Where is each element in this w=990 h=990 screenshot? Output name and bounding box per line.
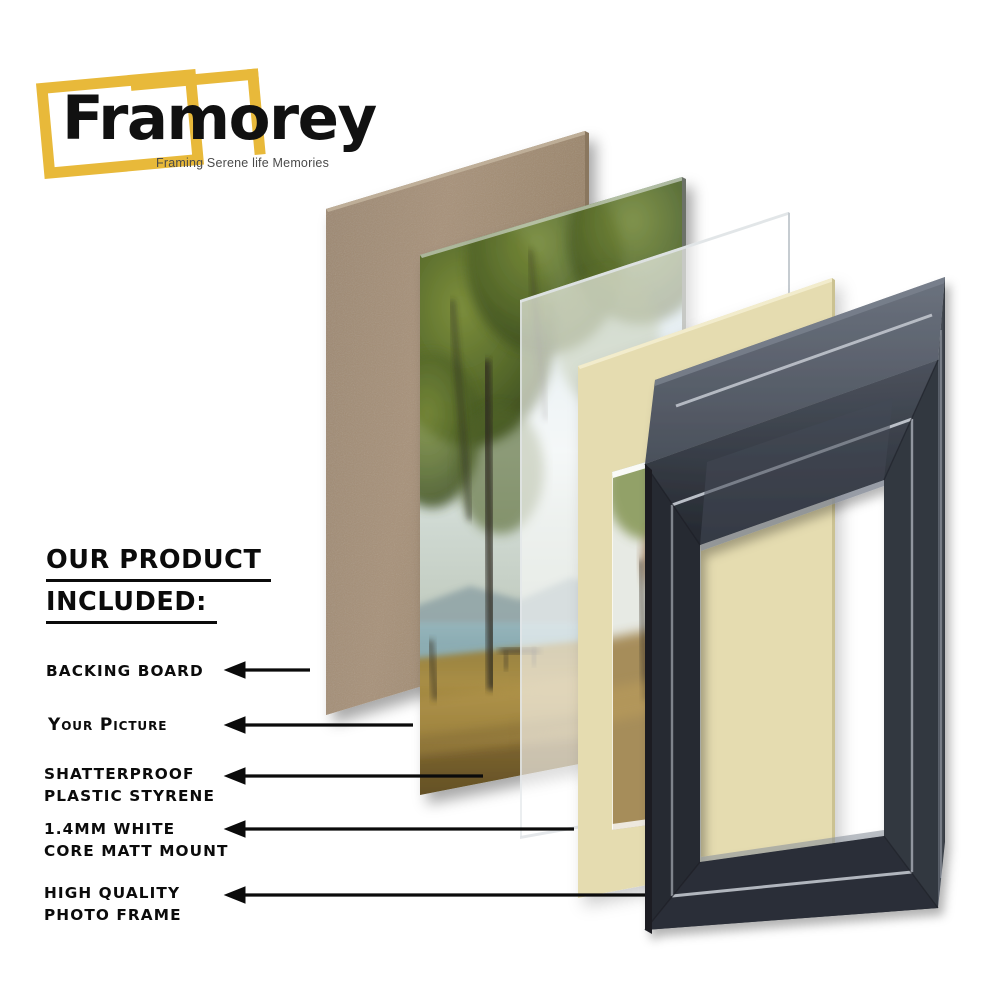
page-title-line1: OUR PRODUCT — [46, 543, 271, 582]
callout-label-matt-mount: 1.4MM WHITE CORE MATT MOUNT — [44, 819, 229, 862]
brand-logo: Framorey Framing Serene life Memories — [38, 68, 368, 188]
callout-label-backing-board: BACKING BOARD — [46, 661, 204, 683]
arrow-backing-board — [225, 662, 310, 678]
product-infographic: Framorey Framing Serene life Memories OU… — [0, 0, 990, 990]
brand-wordmark: Framorey — [62, 88, 376, 149]
callout-label-photo-frame: HIGH QUALITY PHOTO FRAME — [44, 883, 182, 926]
callout-label-styrene: SHATTERPROOF PLASTIC STYRENE — [44, 764, 215, 807]
arrow-your-picture — [225, 717, 413, 733]
callout-label-your-picture: Your Picture — [48, 713, 167, 737]
page-title-line2: INCLUDED: — [46, 585, 217, 624]
page-title: OUR PRODUCT INCLUDED: — [46, 543, 271, 627]
brand-tagline: Framing Serene life Memories — [156, 156, 329, 170]
